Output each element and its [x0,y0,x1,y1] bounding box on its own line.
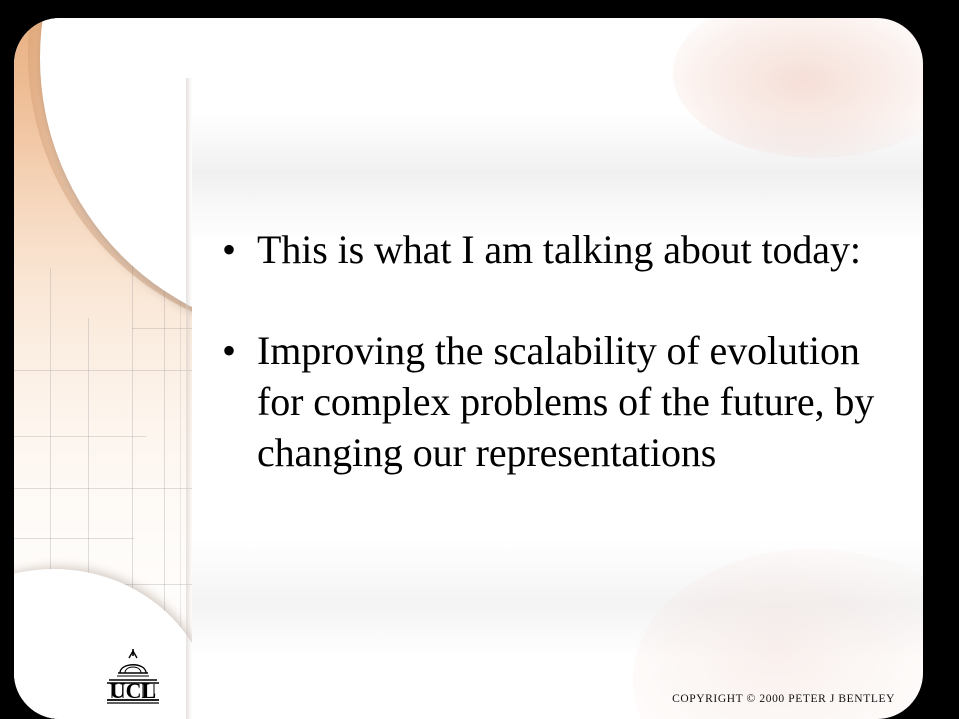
bullet-marker-icon: • [210,224,257,275]
ucl-logo: UCL [96,646,170,708]
slide-body: • This is what I am talking about today:… [210,224,910,478]
bullet-text: This is what I am talking about today: [257,224,910,275]
slide-page: UCL • This is what I am talking about to… [14,18,923,719]
bullet-text: Improving the scalability of evolution f… [257,325,910,478]
sidebar-gradient [14,18,192,719]
bullet-marker-icon: • [210,325,257,376]
left-decorative-panel: UCL [14,18,192,719]
slide-root: UCL • This is what I am talking about to… [0,0,959,719]
bullet-item: • This is what I am talking about today: [210,224,910,275]
copyright-notice: COPYRIGHT © 2000 PETER J BENTLEY [672,693,895,705]
ucl-logo-text: UCL [110,678,156,703]
blush-topright-decoration [673,18,923,158]
shade-band-bottom [164,539,923,659]
bullet-item: • Improving the scalability of evolution… [210,325,910,478]
